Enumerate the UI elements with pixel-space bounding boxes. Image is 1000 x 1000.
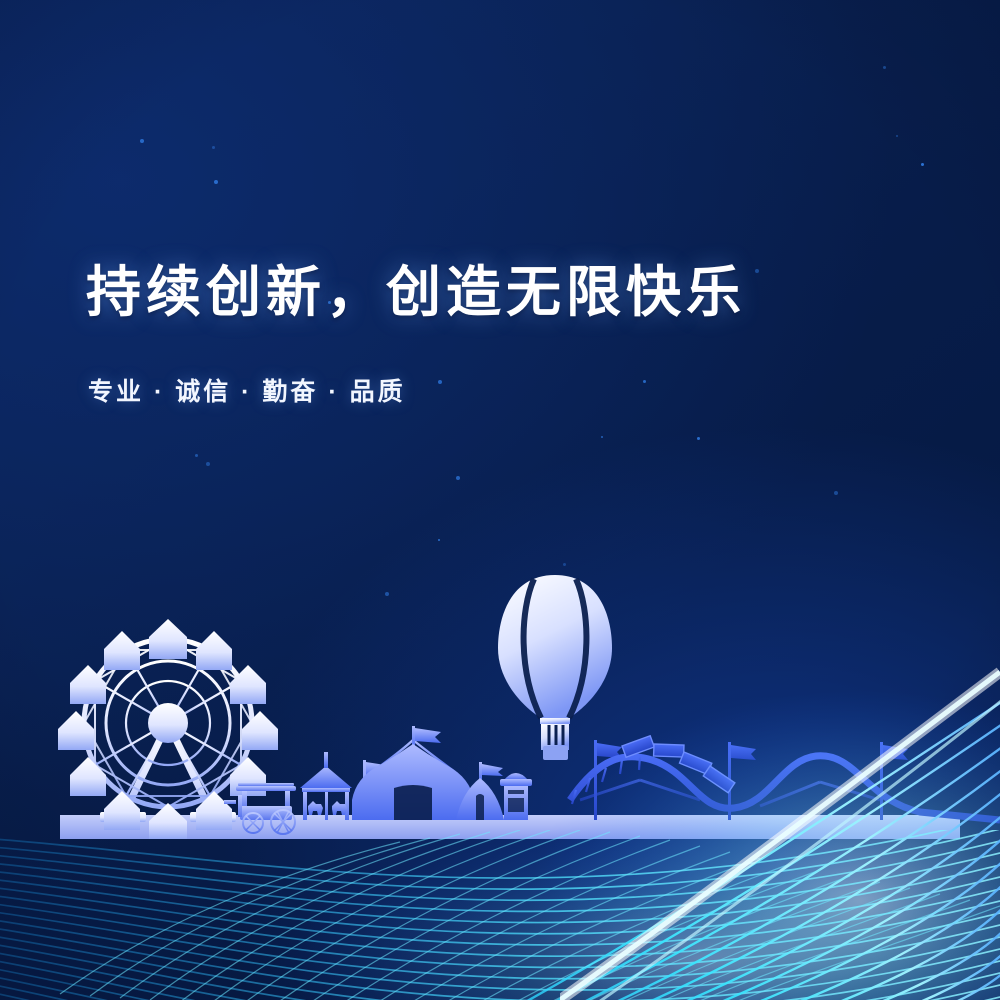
glowing-wave-ribbon: [0, 0, 1000, 1000]
page-title: 持续创新，创造无限快乐: [86, 262, 746, 324]
banner-canvas: 持续创新，创造无限快乐 专业 · 诚信 · 勤奋 · 品质: [0, 0, 1000, 1000]
page-subtitle: 专业 · 诚信 · 勤奋 · 品质: [88, 372, 406, 408]
